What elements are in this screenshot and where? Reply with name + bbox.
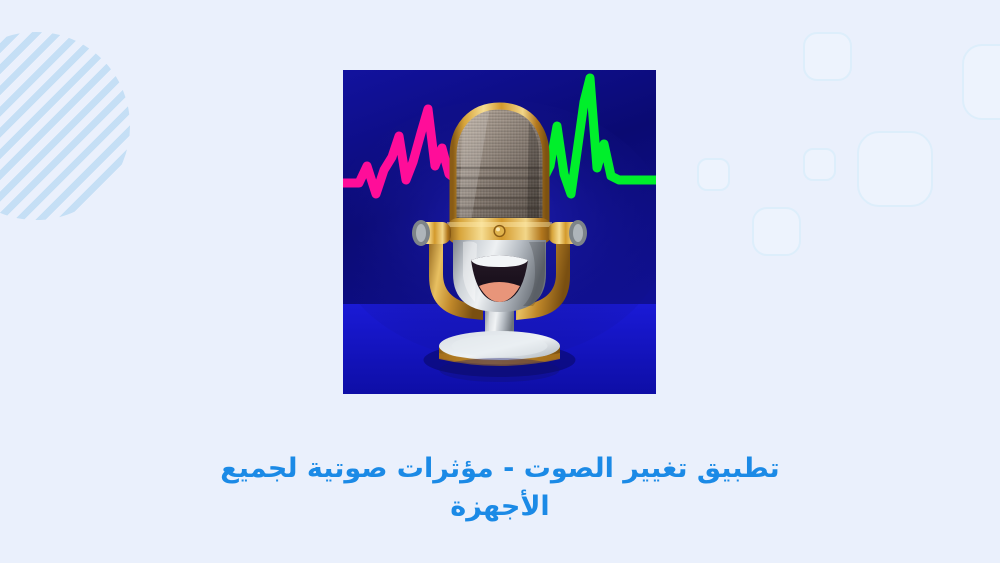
page-title-line-1: تطبيق تغيير الصوت - مؤثرات صوتية لجميع (220, 453, 779, 484)
microphone-body (453, 240, 546, 312)
page-title: تطبيق تغيير الصوت - مؤثرات صوتية لجميع ا… (150, 450, 850, 527)
icon-canvas (343, 70, 656, 394)
page-root: تطبيق تغيير الصوت - مؤثرات صوتية لجميع ا… (0, 0, 1000, 563)
page-title-line-2: الأجهزة (450, 491, 549, 522)
microphone-head (449, 102, 551, 226)
microphone-illustration (343, 70, 656, 394)
voice-changer-app-icon-image (343, 70, 656, 394)
main-content: تطبيق تغيير الصوت - مؤثرات صوتية لجميع ا… (0, 0, 1000, 563)
